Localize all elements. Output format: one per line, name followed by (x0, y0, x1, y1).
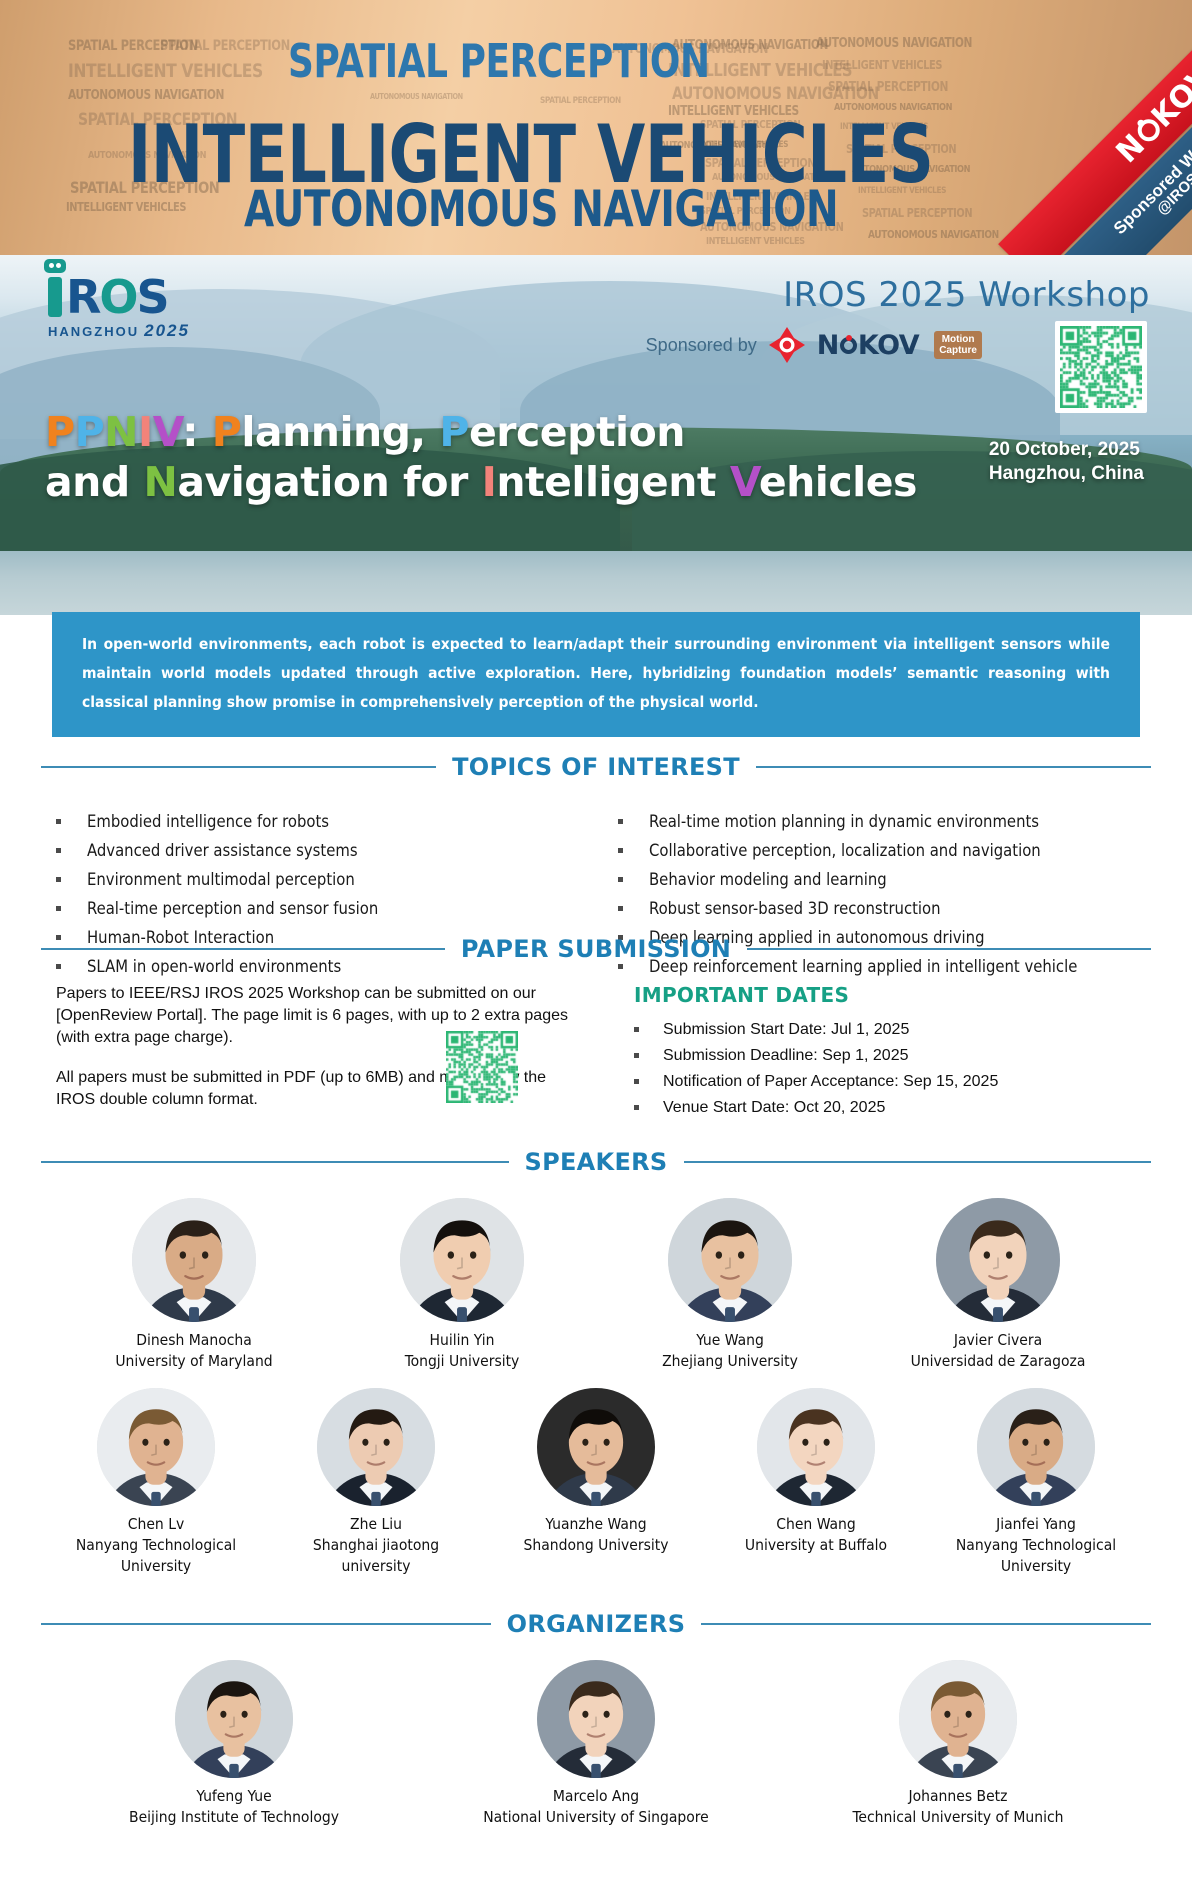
topic-label: Advanced driver assistance systems (87, 836, 358, 865)
person-affiliation: Nanyang Technological University (948, 1535, 1124, 1577)
person-name: Huilin Yin (367, 1330, 557, 1351)
person-affiliation: Beijing Institute of Technology (117, 1807, 351, 1828)
wordcloud-term: SPATIAL PERCEPTION (540, 96, 621, 106)
avatar (132, 1198, 256, 1322)
wordcloud-headline: SPATIAL PERCEPTION (288, 34, 710, 88)
iros-logo: ROS HANGZHOU 2025 (48, 277, 190, 341)
important-dates-list: Submission Start Date: Jul 1, 2025Submis… (634, 1017, 1136, 1121)
person-affiliation: Shandong University (508, 1535, 684, 1556)
organizers-section-header: ORGANIZERS (41, 1610, 1151, 1638)
person-card: Huilin YinTongji University (367, 1198, 557, 1372)
wordcloud-term: INTELLIGENT VEHICLES (66, 200, 186, 214)
wordcloud-term: AUTONOMOUS NAVIGATION (868, 228, 999, 241)
person-name: Jianfei Yang (948, 1514, 1124, 1535)
nokov-o-icon (1133, 115, 1164, 146)
title-segment: P (45, 408, 75, 456)
topic-label: Real-time motion planning in dynamic env… (649, 807, 1039, 836)
person-card: Dinesh ManochaUniversity of Maryland (99, 1198, 289, 1372)
workshop-title: PPNIV: Planning, Perception and Navigati… (45, 407, 917, 507)
submission-qr-code[interactable] (446, 1031, 518, 1103)
title-segment: V (153, 408, 182, 456)
paper-section-header: PAPER SUBMISSION (41, 935, 1151, 963)
title-segment: N (104, 408, 138, 456)
sponsor-row: Sponsored by NKOV MotionCapture (646, 325, 982, 365)
important-date-label: Submission Start Date: Jul 1, 2025 (663, 1017, 909, 1043)
person-affiliation: Universidad de Zaragoza (903, 1351, 1093, 1372)
title-segment: erception (469, 408, 685, 456)
topics-section-header: TOPICS OF INTEREST (41, 753, 1151, 781)
bullet-icon (56, 877, 61, 882)
bullet-icon (634, 1105, 639, 1110)
wordcloud-term: SPATIAL PERCEPTION (160, 38, 290, 54)
wordcloud-term: SPATIAL PERCEPTION (828, 80, 948, 95)
topic-item: Real-time motion planning in dynamic env… (618, 807, 1136, 836)
person-name: Marcelo Ang (479, 1786, 713, 1807)
avatar (899, 1660, 1017, 1778)
rule-left (41, 1161, 509, 1163)
topic-item: Robust sensor-based 3D reconstruction (618, 894, 1136, 923)
person-name: Yuanzhe Wang (508, 1514, 684, 1535)
paper-title: PAPER SUBMISSION (461, 935, 731, 963)
paper-submission-section: PAPER SUBMISSION Papers to IEEE/RSJ IROS… (0, 935, 1192, 1121)
topic-item: Collaborative perception, localization a… (618, 836, 1136, 865)
wordcloud-term: AUTONOMOUS NAVIGATION (816, 36, 972, 51)
title-segment: ehicles (759, 458, 917, 506)
speakers-row-1: Dinesh ManochaUniversity of MarylandHuil… (0, 1198, 1192, 1372)
person-card: Yue WangZhejiang University (635, 1198, 825, 1372)
abstract-box: In open-world environments, each robot i… (52, 612, 1140, 737)
person-name: Yufeng Yue (117, 1786, 351, 1807)
rule-right (747, 948, 1151, 950)
person-card: Marcelo AngNational University of Singap… (479, 1660, 713, 1828)
event-date: 20 October, 2025 (989, 438, 1144, 462)
important-date-label: Venue Start Date: Oct 20, 2025 (663, 1095, 885, 1121)
title-segment: I (482, 458, 497, 506)
ribbon-line1: Sponsored Workshop (1111, 101, 1192, 238)
person-affiliation: Technical University of Munich (841, 1807, 1075, 1828)
person-name: Chen Wang (728, 1514, 904, 1535)
avatar (668, 1198, 792, 1322)
rule-left (41, 766, 436, 768)
title-segment: and (45, 458, 143, 506)
topics-title: TOPICS OF INTEREST (452, 753, 740, 781)
title-segment: V (730, 458, 759, 506)
sponsored-workshop-band: Sponsored Workshop @IROS 2025 (1009, 0, 1192, 255)
bullet-icon (56, 906, 61, 911)
nokov-ribbon-band: NKOV (998, 0, 1192, 255)
title-segment: lanning, (241, 408, 439, 456)
bullet-icon (634, 1053, 639, 1058)
topic-item: Advanced driver assistance systems (56, 836, 596, 865)
bullet-icon (618, 877, 623, 882)
topic-label: Collaborative perception, localization a… (649, 836, 1041, 865)
person-affiliation: Zhejiang University (635, 1351, 825, 1372)
person-affiliation: University at Buffalo (728, 1535, 904, 1556)
person-affiliation: Nanyang Technological University (68, 1535, 244, 1577)
iros-logo-word: ROS (66, 277, 168, 317)
avatar (537, 1388, 655, 1506)
wordcloud-term: SPATIAL PERCEPTION (862, 206, 972, 220)
person-affiliation: Shanghai jiaotong university (288, 1535, 464, 1577)
title-segment: P (75, 408, 105, 456)
person-affiliation: National University of Singapore (479, 1807, 713, 1828)
rule-left (41, 948, 445, 950)
hero-title: IROS 2025 Workshop (783, 275, 1150, 315)
workshop-title-line1: PPNIV: Planning, Perception (45, 407, 917, 457)
wordcloud-term: INTELLIGENT VEHICLES (822, 58, 942, 72)
nokov-wordmark: NKOV (817, 330, 919, 361)
iros-logo-year: 2025 (144, 321, 190, 341)
bullet-icon (634, 1027, 639, 1032)
motion-capture-badge: MotionCapture (934, 331, 982, 359)
speakers-row-2: Chen LvNanyang Technological UniversityZ… (0, 1388, 1192, 1577)
workshop-title-line2: and Navigation for Intelligent Vehicles (45, 457, 917, 507)
person-card: Yuanzhe WangShandong University (508, 1388, 684, 1556)
topic-label: Real-time perception and sensor fusion (87, 894, 378, 923)
person-name: Javier Civera (903, 1330, 1093, 1351)
important-date-item: Venue Start Date: Oct 20, 2025 (634, 1095, 1136, 1121)
rule-left (41, 1623, 491, 1625)
topic-item: Real-time perception and sensor fusion (56, 894, 596, 923)
person-name: Zhe Liu (288, 1514, 464, 1535)
avatar (936, 1198, 1060, 1322)
hero-banner: ROS HANGZHOU 2025 IROS 2025 Workshop Spo… (0, 255, 1192, 615)
important-date-item: Submission Deadline: Sep 1, 2025 (634, 1043, 1136, 1069)
title-segment: P (439, 408, 469, 456)
rule-right (684, 1161, 1152, 1163)
paper-instructions: Papers to IEEE/RSJ IROS 2025 Workshop ca… (56, 983, 576, 1121)
sponsor-corner-ribbon: NKOV Sponsored Workshop @IROS 2025 (937, 0, 1192, 255)
topic-item: Embodied intelligence for robots (56, 807, 596, 836)
avatar (317, 1388, 435, 1506)
wordcloud-header: SPATIAL PERCEPTIONSPATIAL PERCEPTIONAUTO… (0, 0, 1192, 255)
title-segment: ntelligent (496, 458, 729, 506)
topic-label: Environment multimodal perception (87, 865, 355, 894)
bullet-icon (56, 848, 61, 853)
bullet-icon (618, 819, 623, 824)
avatar (757, 1388, 875, 1506)
bullet-icon (618, 848, 623, 853)
hero-qr-code[interactable] (1055, 321, 1147, 413)
wordcloud-term: AUTONOMOUS NAVIGATION (370, 92, 463, 101)
important-date-item: Notification of Paper Acceptance: Sep 15… (634, 1069, 1136, 1095)
event-date-location: 20 October, 2025 Hangzhou, China (989, 438, 1144, 486)
avatar (537, 1660, 655, 1778)
avatar (97, 1388, 215, 1506)
topic-item: Behavior modeling and learning (618, 865, 1136, 894)
person-card: Chen WangUniversity at Buffalo (728, 1388, 904, 1556)
person-name: Yue Wang (635, 1330, 825, 1351)
bullet-icon (634, 1079, 639, 1084)
title-segment: avigation for (177, 458, 481, 506)
person-name: Dinesh Manocha (99, 1330, 289, 1351)
wordcloud-term: INTELLIGENT VEHICLES (68, 60, 263, 82)
title-segment: P (212, 408, 242, 456)
person-name: Chen Lv (68, 1514, 244, 1535)
person-card: Jianfei YangNanyang Technological Univer… (948, 1388, 1124, 1577)
important-dates-title: IMPORTANT DATES (634, 983, 1136, 1007)
ribbon-line2: @IROS 2025 (1154, 144, 1192, 218)
speakers-section: SPEAKERS Dinesh ManochaUniversity of Mar… (0, 1148, 1192, 1577)
person-card: Yufeng YueBeijing Institute of Technolog… (117, 1660, 351, 1828)
wordcloud-headline: AUTONOMOUS NAVIGATION (244, 180, 838, 238)
nokov-star-icon (767, 325, 807, 365)
important-date-item: Submission Start Date: Jul 1, 2025 (634, 1017, 1136, 1043)
organizers-section: ORGANIZERS Yufeng YueBeijing Institute o… (0, 1610, 1192, 1828)
person-card: Zhe LiuShanghai jiaotong university (288, 1388, 464, 1577)
avatar (175, 1660, 293, 1778)
organizers-row: Yufeng YueBeijing Institute of Technolog… (0, 1660, 1192, 1828)
important-dates-block: IMPORTANT DATES Submission Start Date: J… (576, 983, 1136, 1121)
speakers-title: SPEAKERS (525, 1148, 668, 1176)
iros-logo-city: HANGZHOU (48, 324, 139, 339)
person-card: Johannes BetzTechnical University of Mun… (841, 1660, 1075, 1828)
rule-right (756, 766, 1151, 768)
organizers-title: ORGANIZERS (507, 1610, 686, 1638)
nokov-ribbon-label: NKOV (1109, 58, 1192, 170)
person-affiliation: Tongji University (367, 1351, 557, 1372)
person-affiliation: University of Maryland (99, 1351, 289, 1372)
iros-robot-icon (48, 277, 62, 317)
important-date-label: Notification of Paper Acceptance: Sep 15… (663, 1069, 998, 1095)
sponsored-by-label: Sponsored by (646, 335, 757, 356)
lake-layer (0, 551, 1192, 615)
person-name: Johannes Betz (841, 1786, 1075, 1807)
bullet-icon (618, 906, 623, 911)
title-segment: I (138, 408, 153, 456)
topic-label: Behavior modeling and learning (649, 865, 887, 894)
person-card: Javier CiveraUniversidad de Zaragoza (903, 1198, 1093, 1372)
avatar (400, 1198, 524, 1322)
bullet-icon (56, 819, 61, 824)
important-date-label: Submission Deadline: Sep 1, 2025 (663, 1043, 909, 1069)
person-card: Chen LvNanyang Technological University (68, 1388, 244, 1577)
nokov-dot-o-icon (840, 337, 857, 354)
title-segment: : (182, 408, 212, 456)
event-location: Hangzhou, China (989, 462, 1144, 486)
title-segment: N (143, 458, 177, 506)
wordcloud-term: AUTONOMOUS NAVIGATION (68, 88, 224, 103)
rule-right (701, 1623, 1151, 1625)
avatar (977, 1388, 1095, 1506)
topic-label: Robust sensor-based 3D reconstruction (649, 894, 941, 923)
topic-item: Environment multimodal perception (56, 865, 596, 894)
speakers-section-header: SPEAKERS (41, 1148, 1151, 1176)
topic-label: Embodied intelligence for robots (87, 807, 329, 836)
